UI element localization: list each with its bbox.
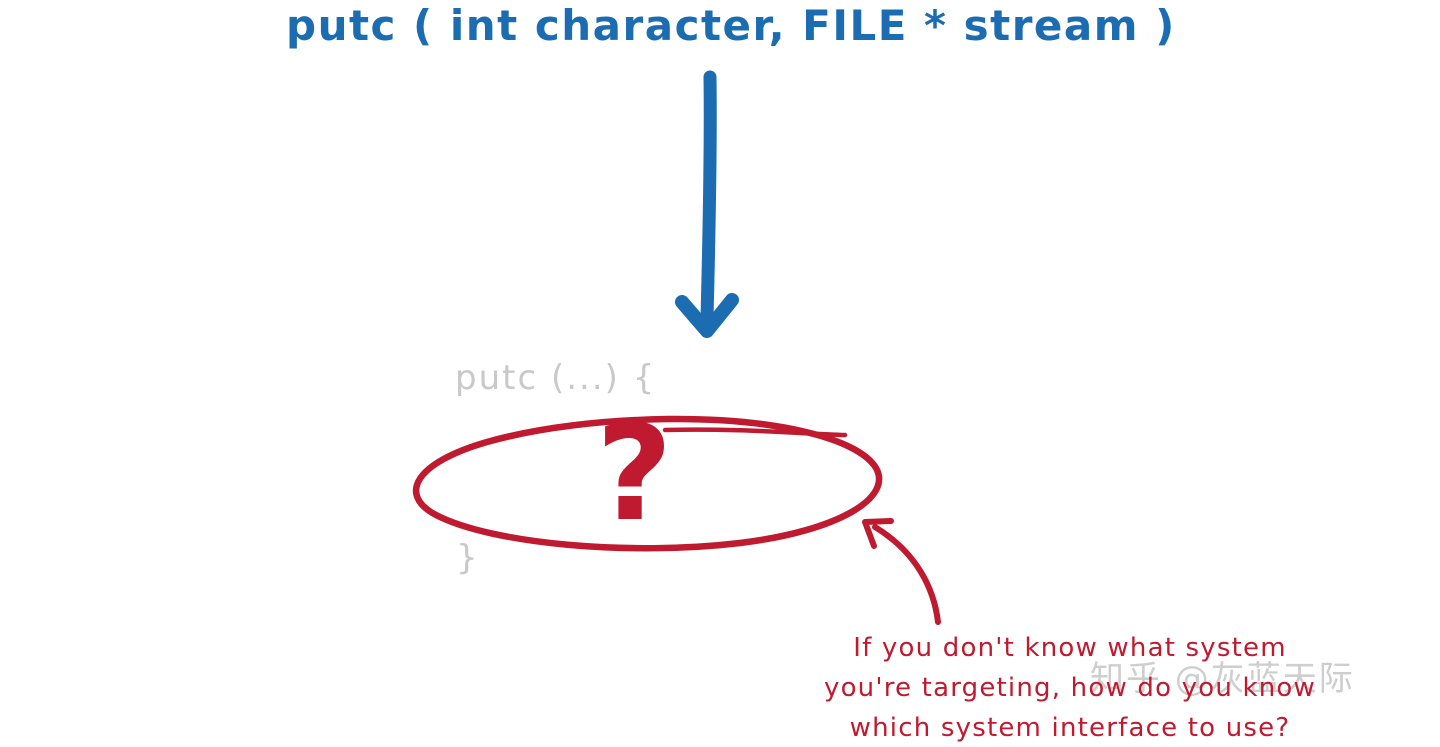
function-body-close: } — [456, 538, 480, 578]
question-mark: ? — [596, 408, 673, 540]
caption-line-1: If you don't know what system — [790, 628, 1350, 668]
caption-line-2: you're targeting, how do you know — [790, 668, 1350, 708]
callout-arrow-head — [865, 521, 891, 546]
callout-arrow-shaft — [875, 527, 938, 622]
caption: If you don't know what system you're tar… — [790, 628, 1350, 747]
caption-line-3: which system interface to use? — [790, 708, 1350, 747]
function-body-open: putc (...) { — [455, 358, 656, 398]
diagram-canvas: putc ( int character, FILE * stream ) pu… — [0, 0, 1440, 747]
blue-arrow-shaft — [707, 77, 710, 318]
function-signature: putc ( int character, FILE * stream ) — [286, 0, 1166, 54]
blue-arrow-head — [682, 300, 732, 331]
question-ellipse-overshoot — [665, 430, 845, 435]
